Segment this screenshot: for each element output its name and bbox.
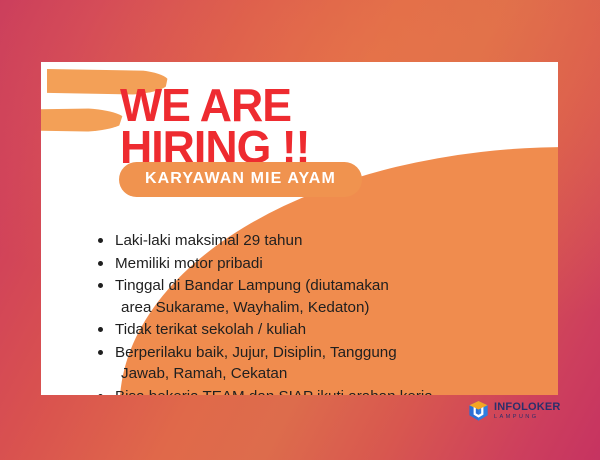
requirement-text: Tinggal di Bandar Lampung (diutamakan bbox=[115, 277, 389, 294]
bullet-dot-icon bbox=[98, 394, 103, 395]
requirement-text-continuation: Jawab, Ramah, Cekatan bbox=[115, 363, 537, 385]
requirement-text: Berperilaku baik, Jujur, Disiplin, Tangg… bbox=[115, 344, 397, 361]
box-cube-icon bbox=[468, 400, 489, 422]
poster-card: WE ARE HIRING !! KARYAWAN MIE AYAM Laki-… bbox=[41, 62, 558, 395]
logo-name: INFOLOKER bbox=[494, 402, 561, 413]
bullet-dot-icon bbox=[98, 238, 103, 243]
requirement-text-continuation: area Sukarame, Wayhalim, Kedaton) bbox=[115, 297, 537, 319]
requirement-text: Memiliki motor pribadi bbox=[115, 255, 263, 272]
bullet-dot-icon bbox=[98, 283, 103, 288]
list-item: Memiliki motor pribadi bbox=[97, 253, 537, 275]
list-item: Berperilaku baik, Jujur, Disiplin, Tangg… bbox=[97, 342, 537, 385]
brand-logo: INFOLOKER LAMPUNG bbox=[468, 400, 561, 422]
logo-wordmark: INFOLOKER LAMPUNG bbox=[494, 402, 561, 421]
bullet-dot-icon bbox=[98, 327, 103, 332]
bullet-dot-icon bbox=[98, 350, 103, 355]
logo-tagline: LAMPUNG bbox=[494, 415, 561, 421]
list-item: Tidak terikat sekolah / kuliah bbox=[97, 319, 537, 341]
position-badge: KARYAWAN MIE AYAM bbox=[119, 162, 362, 197]
requirement-text: Tidak terikat sekolah / kuliah bbox=[115, 321, 306, 338]
headline: WE ARE HIRING !! bbox=[120, 84, 310, 169]
bullet-dot-icon bbox=[98, 261, 103, 266]
requirement-text: Laki-laki maksimal 29 tahun bbox=[115, 232, 302, 249]
list-item: Laki-laki maksimal 29 tahun bbox=[97, 230, 537, 252]
requirements-list: Laki-laki maksimal 29 tahun Memiliki mot… bbox=[97, 230, 537, 395]
requirement-text: Bisa bekerja TEAM dan SIAP ikuti arahan … bbox=[115, 388, 433, 395]
list-item: Bisa bekerja TEAM dan SIAP ikuti arahan … bbox=[97, 386, 537, 395]
poster-canvas: WE ARE HIRING !! KARYAWAN MIE AYAM Laki-… bbox=[0, 0, 600, 460]
brush-stroke-second-icon bbox=[41, 108, 125, 132]
list-item: Tinggal di Bandar Lampung (diutamakan ar… bbox=[97, 275, 537, 318]
